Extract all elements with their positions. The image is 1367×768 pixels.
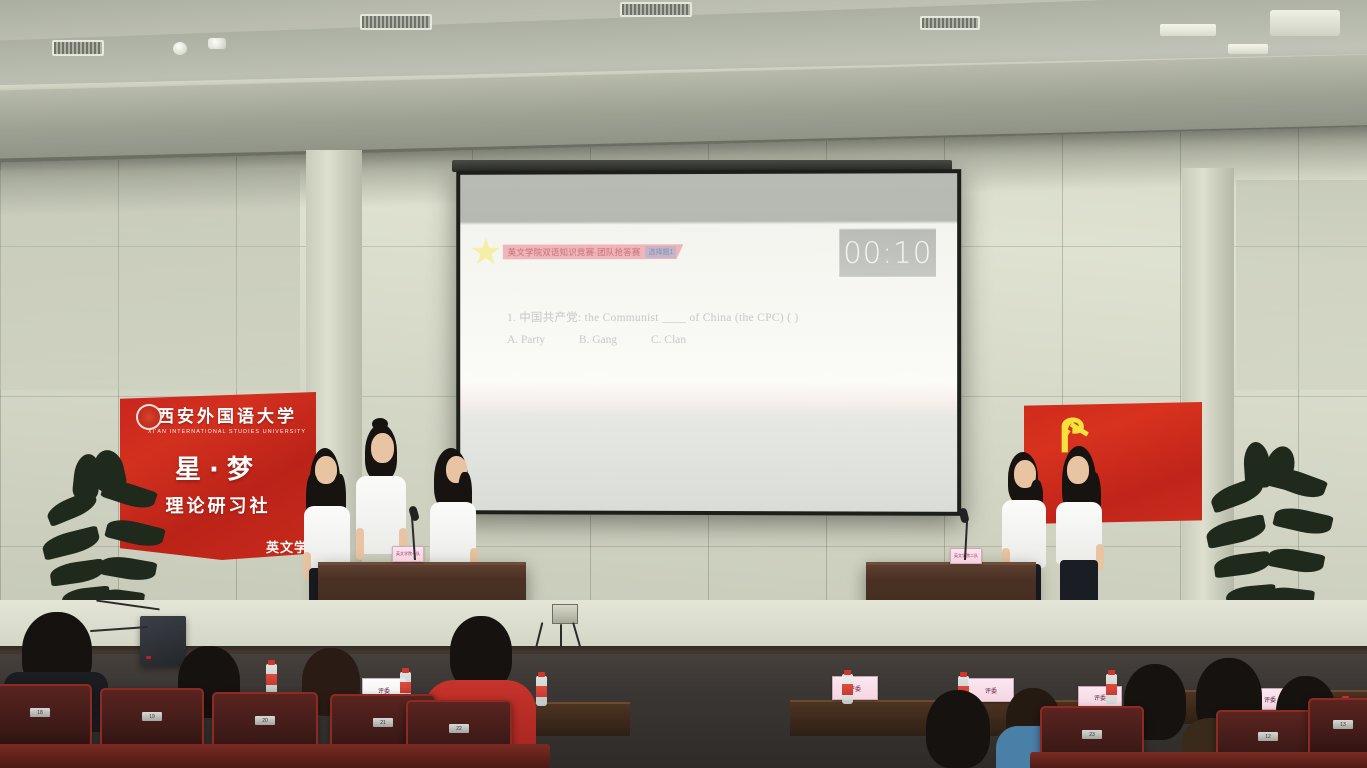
- speaker-power-led: [146, 656, 151, 659]
- plant-leaf: [104, 515, 166, 550]
- seat-number-plate: 23: [1082, 730, 1102, 739]
- banner-strip: 英文学院双语知识竞赛·团队抢答赛 选择题1: [503, 244, 684, 259]
- question-prompt: 1. 中国共产党: the Communist ____ of China (t…: [507, 309, 927, 325]
- question-number: 1.: [507, 312, 516, 324]
- star-icon: [471, 238, 501, 267]
- timer-value: 00:10: [843, 236, 932, 270]
- option-b: B. Gang: [579, 334, 617, 346]
- lecture-hall-photo: 英文学院双语知识竞赛·团队抢答赛 选择题1 00:10 1. 中国共产党: th…: [0, 0, 1367, 768]
- seat-number-plate: 21: [373, 718, 393, 727]
- hvac-vent-icon: [920, 16, 980, 30]
- ceiling-light-icon: [1270, 10, 1340, 36]
- audience-seat[interactable]: 13: [1308, 698, 1367, 756]
- smoke-detector-icon: [208, 38, 226, 49]
- plant-leaf: [40, 525, 102, 560]
- question-options: A. Party B. Gang C. Clan: [507, 334, 927, 346]
- plant-leaf: [49, 558, 105, 586]
- seat-number-plate: 18: [30, 708, 50, 717]
- plant-leaf: [1213, 551, 1271, 579]
- bottle-label: [266, 674, 277, 685]
- bottle-label: [1106, 684, 1117, 695]
- slide-banner-tag: 选择题1: [646, 246, 677, 258]
- seat-number-plate: 22: [449, 724, 469, 733]
- seat-row-rail: [1030, 752, 1367, 768]
- hvac-vent-icon: [52, 40, 104, 56]
- question-text: 中国共产党: the Communist ____ of China (the …: [519, 312, 798, 324]
- stage-back-wall: [0, 600, 1367, 652]
- question-block: 1. 中国共产党: the Communist ____ of China (t…: [507, 309, 927, 346]
- countdown-timer: 00:10: [839, 228, 936, 276]
- slide-banner-title: 英文学院双语知识竞赛·团队抢答赛: [508, 246, 641, 258]
- seat-number-plate: 20: [255, 716, 275, 725]
- party-flag: [1024, 402, 1202, 524]
- hvac-vent-icon: [620, 2, 692, 17]
- plant-leaf: [1204, 514, 1267, 549]
- plant-leaf: [99, 553, 158, 583]
- option-c: C. Clan: [651, 334, 686, 346]
- seat-number-plate: 19: [142, 712, 162, 721]
- plant-leaf: [1267, 545, 1326, 576]
- option-a: A. Party: [507, 334, 545, 346]
- club-subtitle: 理论研习社: [166, 492, 271, 518]
- seat-number-plate: 12: [1258, 732, 1278, 741]
- audience-seat[interactable]: 19: [100, 688, 204, 750]
- university-name-en: XI'AN INTERNATIONAL STUDIES UNIVERSITY: [148, 429, 306, 435]
- water-bottle: [266, 664, 277, 694]
- arm: [356, 528, 364, 560]
- head: [450, 616, 512, 690]
- seat-row-rail: [0, 744, 550, 768]
- judge-name-card: 评委: [832, 676, 878, 700]
- wall-recess: [1236, 180, 1367, 390]
- audience-member: [926, 690, 990, 768]
- university-seal-icon: [136, 404, 162, 430]
- bottle-label: [842, 684, 853, 695]
- hvac-vent-icon: [360, 14, 432, 30]
- wall-recess: [0, 170, 300, 390]
- slide-content: 英文学院双语知识竞赛·团队抢答赛 选择题1 00:10 1. 中国共产党: th…: [460, 222, 957, 512]
- club-name: 星·梦: [175, 449, 261, 486]
- university-name-cn: 西安外国语大学: [157, 402, 297, 427]
- smoke-detector-icon: [173, 42, 187, 55]
- hair-bun: [372, 418, 388, 430]
- projection-screen: 英文学院双语知识竞赛·团队抢答赛 选择题1 00:10 1. 中国共产党: th…: [456, 169, 961, 516]
- left-podium-name-card: 英文学院一队: [392, 546, 424, 562]
- bottle-label: [400, 682, 411, 693]
- wall-outlet-icon: [552, 604, 578, 624]
- water-bottle: [842, 674, 853, 704]
- ceiling-light-icon: [1160, 24, 1216, 36]
- head: [926, 690, 990, 768]
- seat-number-plate: 13: [1333, 720, 1353, 729]
- bottle-label: [536, 686, 547, 697]
- slide-title-banner: 英文学院双语知识竞赛·团队抢答赛 选择题1: [471, 237, 683, 266]
- plant-leaf: [1272, 504, 1333, 538]
- water-bottle: [1106, 674, 1117, 704]
- screen-surface: 英文学院双语知识竞赛·团队抢答赛 选择题1 00:10 1. 中国共产党: th…: [460, 173, 957, 512]
- head: [371, 433, 394, 463]
- water-bottle: [536, 676, 547, 706]
- audience-member: [450, 616, 512, 690]
- audience-seat[interactable]: 18: [0, 684, 92, 746]
- ceiling-light-icon: [1228, 44, 1268, 54]
- head: [1067, 456, 1089, 484]
- contestant-left-3: [428, 448, 480, 578]
